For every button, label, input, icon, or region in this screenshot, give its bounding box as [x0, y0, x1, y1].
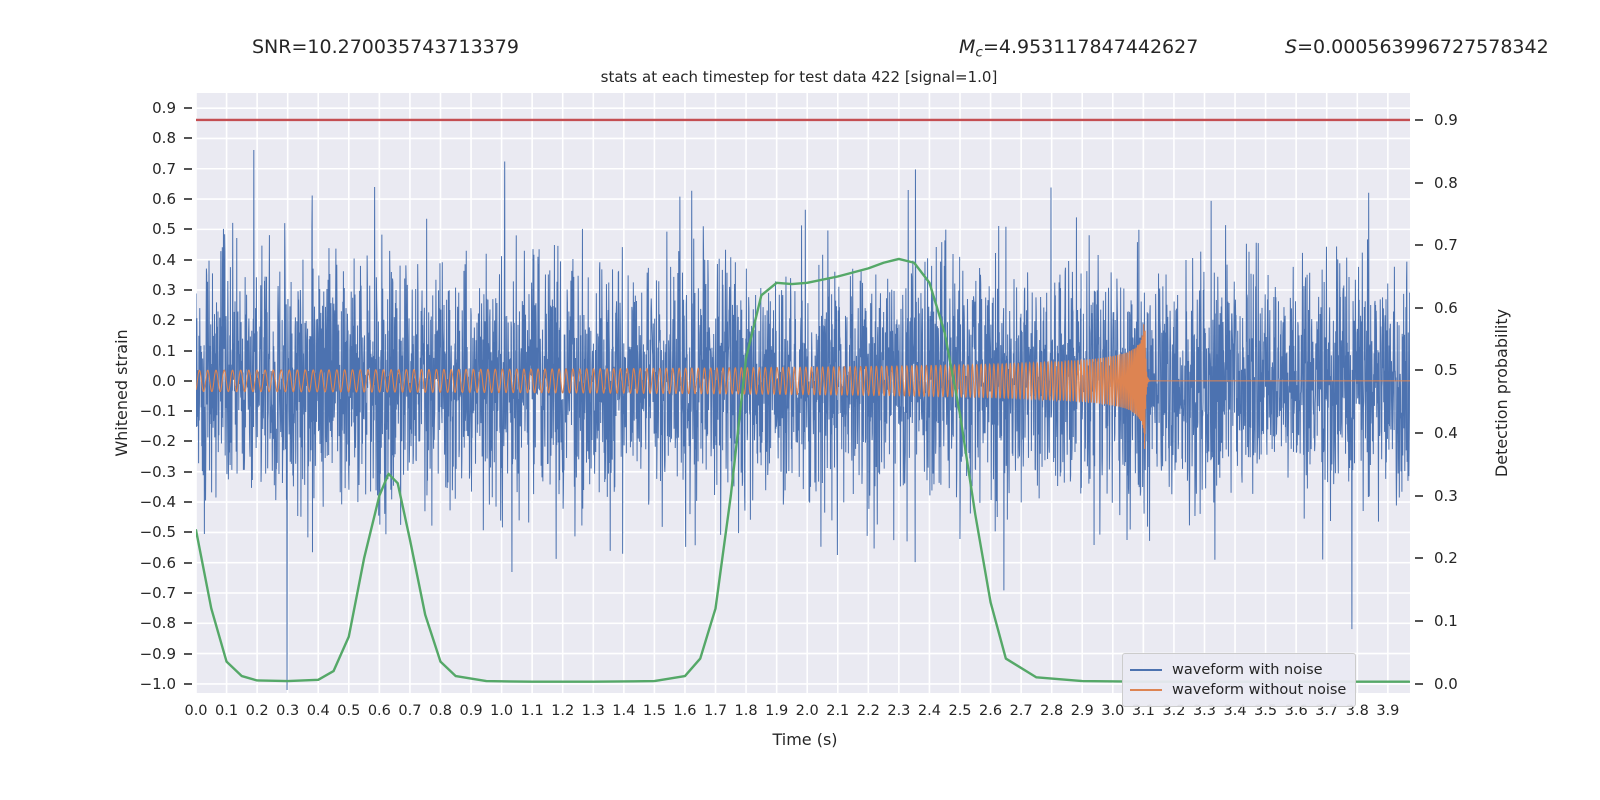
y-axis-left-label: Whitened strain — [112, 329, 131, 456]
y-tick-mark-left-14 — [184, 531, 192, 533]
y-tick-mark-right-3 — [1415, 307, 1423, 309]
y-tick-mark-left-1 — [184, 137, 192, 139]
legend-label-without-noise: waveform without noise — [1172, 680, 1346, 700]
plot-svg — [196, 93, 1410, 693]
y-tick-left-6: 0.3 — [116, 281, 176, 299]
x-tick-23: 2.3 — [887, 703, 910, 719]
y-tick-mark-right-7 — [1415, 557, 1423, 559]
y-tick-right-3: 0.6 — [1434, 299, 1494, 317]
x-tick-7: 0.7 — [398, 703, 421, 719]
y-tick-right-0: 0.9 — [1434, 111, 1494, 129]
x-tick-15: 1.5 — [643, 703, 666, 719]
legend-swatch-without-noise — [1130, 689, 1162, 691]
suptitle-s-statistic: S=0.000563996727578342 — [1285, 36, 1549, 58]
y-tick-mark-left-4 — [184, 228, 192, 230]
figure-canvas: SNR=10.270035743713379 Mc=4.953117847442… — [0, 0, 1600, 800]
x-tick-13: 1.3 — [582, 703, 605, 719]
x-tick-24: 2.4 — [918, 703, 941, 719]
x-tick-5: 0.5 — [337, 703, 360, 719]
y-tick-mark-left-12 — [184, 471, 192, 473]
x-tick-27: 2.7 — [1010, 703, 1033, 719]
y-tick-left-12: −0.3 — [116, 463, 176, 481]
x-tick-18: 1.8 — [735, 703, 758, 719]
y-tick-mark-right-5 — [1415, 432, 1423, 434]
x-tick-21: 2.1 — [826, 703, 849, 719]
x-tick-12: 1.2 — [551, 703, 574, 719]
x-tick-0: 0.0 — [184, 703, 207, 719]
y-tick-right-1: 0.8 — [1434, 174, 1494, 192]
x-tick-39: 3.9 — [1376, 703, 1399, 719]
y-tick-mark-left-13 — [184, 501, 192, 503]
y-tick-left-5: 0.4 — [116, 251, 176, 269]
y-tick-mark-right-2 — [1415, 244, 1423, 246]
x-tick-19: 1.9 — [765, 703, 788, 719]
y-tick-left-4: 0.5 — [116, 220, 176, 238]
y-tick-left-13: −0.4 — [116, 493, 176, 511]
legend-label-with-noise: waveform with noise — [1172, 660, 1323, 680]
x-tick-20: 2.0 — [796, 703, 819, 719]
chirp-mass-symbol: M — [959, 36, 975, 58]
suptitle-chirp-mass: Mc=4.953117847442627 — [959, 36, 1198, 60]
x-tick-26: 2.6 — [979, 703, 1002, 719]
x-tick-9: 0.9 — [460, 703, 483, 719]
x-tick-4: 0.4 — [307, 703, 330, 719]
x-tick-2: 0.2 — [246, 703, 269, 719]
x-tick-8: 0.8 — [429, 703, 452, 719]
y-tick-mark-left-17 — [184, 622, 192, 624]
y-tick-left-19: −1.0 — [116, 675, 176, 693]
y-tick-left-0: 0.9 — [116, 99, 176, 117]
legend-item-with-noise[interactable]: waveform with noise — [1130, 660, 1346, 680]
y-tick-mark-left-18 — [184, 653, 192, 655]
x-tick-22: 2.2 — [857, 703, 880, 719]
legend-item-without-noise[interactable]: waveform without noise — [1130, 680, 1346, 700]
y-tick-right-2: 0.7 — [1434, 236, 1494, 254]
y-tick-left-3: 0.6 — [116, 190, 176, 208]
y-tick-left-18: −0.9 — [116, 645, 176, 663]
y-tick-left-7: 0.2 — [116, 311, 176, 329]
y-tick-mark-right-8 — [1415, 620, 1423, 622]
y-tick-mark-right-9 — [1415, 683, 1423, 685]
y-tick-mark-left-11 — [184, 440, 192, 442]
y-tick-right-9: 0.0 — [1434, 675, 1494, 693]
x-tick-14: 1.4 — [612, 703, 635, 719]
x-tick-6: 0.6 — [368, 703, 391, 719]
legend-swatch-with-noise — [1130, 669, 1162, 671]
chirp-mass-value: =4.953117847442627 — [983, 36, 1198, 58]
chirp-mass-subscript: c — [975, 44, 983, 60]
y-tick-mark-left-19 — [184, 683, 192, 685]
y-tick-mark-left-8 — [184, 350, 192, 352]
y-tick-left-14: −0.5 — [116, 523, 176, 541]
y-tick-mark-right-4 — [1415, 369, 1423, 371]
y-tick-mark-left-7 — [184, 319, 192, 321]
y-tick-right-4: 0.5 — [1434, 361, 1494, 379]
x-tick-11: 1.1 — [521, 703, 544, 719]
y-tick-right-5: 0.4 — [1434, 424, 1494, 442]
y-tick-left-15: −0.6 — [116, 554, 176, 572]
x-tick-1: 0.1 — [215, 703, 238, 719]
y-tick-mark-left-15 — [184, 562, 192, 564]
y-tick-left-17: −0.8 — [116, 614, 176, 632]
legend[interactable]: waveform with noise waveform without noi… — [1122, 653, 1356, 707]
y-tick-mark-left-3 — [184, 198, 192, 200]
y-tick-mark-left-2 — [184, 168, 192, 170]
x-tick-16: 1.6 — [673, 703, 696, 719]
y-tick-right-6: 0.3 — [1434, 487, 1494, 505]
y-tick-right-7: 0.2 — [1434, 549, 1494, 567]
y-tick-mark-left-6 — [184, 289, 192, 291]
s-value: =0.000563996727578342 — [1297, 36, 1549, 58]
y-tick-mark-left-9 — [184, 380, 192, 382]
y-tick-left-16: −0.7 — [116, 584, 176, 602]
y-tick-left-2: 0.7 — [116, 160, 176, 178]
axes-title: stats at each timestep for test data 422… — [0, 68, 1600, 86]
x-tick-28: 2.8 — [1040, 703, 1063, 719]
y-axis-right-label: Detection probability — [1492, 309, 1511, 477]
y-tick-mark-left-10 — [184, 410, 192, 412]
y-tick-mark-left-5 — [184, 259, 192, 261]
y-tick-left-1: 0.8 — [116, 129, 176, 147]
y-tick-mark-left-0 — [184, 107, 192, 109]
y-tick-mark-right-1 — [1415, 182, 1423, 184]
s-symbol: S — [1285, 36, 1297, 58]
x-tick-17: 1.7 — [704, 703, 727, 719]
y-tick-mark-right-0 — [1415, 119, 1423, 121]
y-tick-mark-left-16 — [184, 592, 192, 594]
series-waveform-with-noise — [196, 150, 1410, 690]
x-tick-25: 2.5 — [948, 703, 971, 719]
suptitle-snr: SNR=10.270035743713379 — [252, 36, 519, 58]
x-tick-30: 3.0 — [1101, 703, 1124, 719]
x-tick-3: 0.3 — [276, 703, 299, 719]
y-tick-right-8: 0.1 — [1434, 612, 1494, 630]
plot-area — [196, 93, 1410, 693]
x-axis-label: Time (s) — [0, 730, 1600, 749]
x-tick-10: 1.0 — [490, 703, 513, 719]
x-tick-29: 2.9 — [1071, 703, 1094, 719]
y-tick-mark-right-6 — [1415, 495, 1423, 497]
